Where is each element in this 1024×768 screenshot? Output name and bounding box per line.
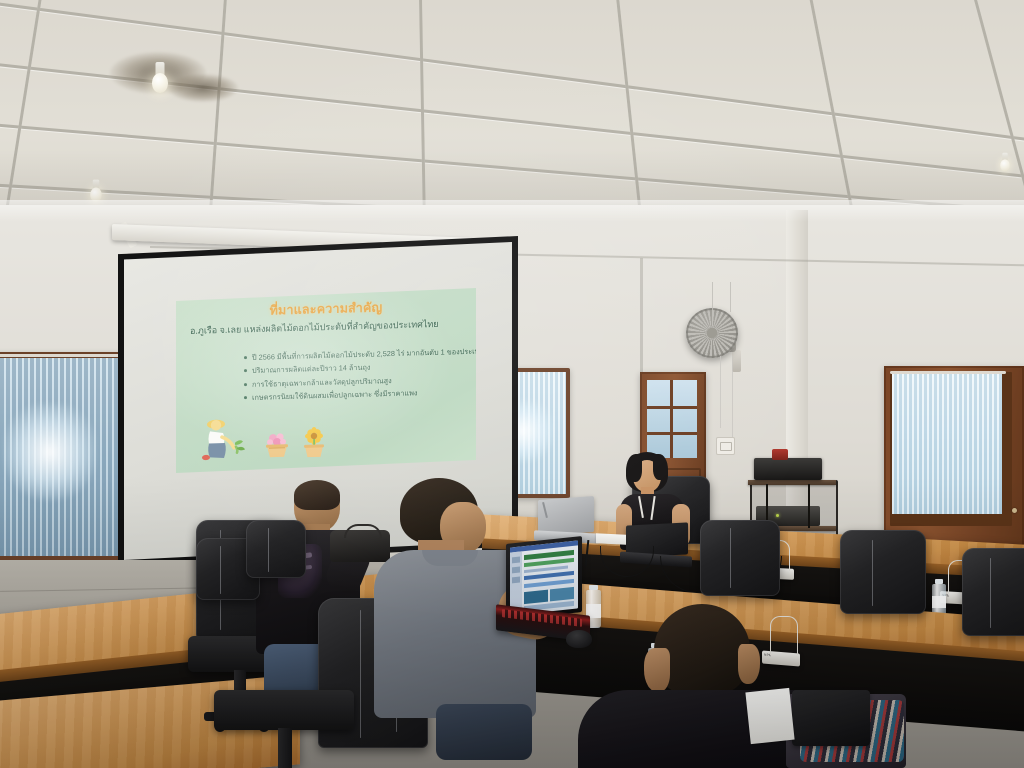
rack-red-device	[772, 449, 788, 460]
laptop-screen	[510, 540, 578, 615]
pink-flower-pot-icon	[262, 429, 292, 460]
notebook-paper	[745, 688, 794, 744]
fan-wall-mount	[732, 350, 741, 372]
chair-foreground-left[interactable]	[214, 690, 364, 768]
slide-bullet: ปริมาณการผลิตแต่ละปีราว 14 ล้านถุง	[244, 359, 476, 376]
gardener-planting-icon	[202, 416, 248, 461]
sunflower-pot-icon	[300, 427, 328, 460]
door-knob-icon[interactable]	[1012, 508, 1017, 513]
wireless-mouse[interactable]	[566, 630, 592, 648]
right-door-curtain	[892, 374, 1002, 514]
presenter-paper	[596, 533, 626, 545]
pendant-bulb-icon	[150, 62, 170, 102]
chair-right-3[interactable]	[962, 548, 1024, 674]
left-window-glare	[4, 404, 96, 500]
meeting-room-photo: ที่มาและความสำคัญ อ.ภูเรือ จ.เลย แหล่งผล…	[0, 0, 1024, 768]
tablet-device[interactable]	[792, 690, 870, 746]
slide-bullet-list: ปี 2566 มีพื้นที่การผลิตไม้ดอกไม้ประดับ …	[204, 346, 476, 408]
chair-left-2[interactable]	[246, 520, 316, 610]
slide-bullet: ปี 2566 มีพื้นที่การผลิตไม้ดอกไม้ประดับ …	[244, 346, 476, 363]
ceiling-water-stain-2	[168, 74, 238, 102]
slide-bullet: การใช้ธาตุเฉพาะกล้าและวัสดุปลูกปริมาณสูง	[244, 372, 476, 389]
wall-power-outlet[interactable]	[716, 437, 735, 455]
attendee-hair	[294, 480, 340, 510]
rack-black-device	[754, 458, 822, 480]
presentation-slide: ที่มาและความสำคัญ อ.ภูเรือ จ.เลย แหล่งผล…	[176, 288, 476, 473]
chair-right-2[interactable]	[840, 530, 936, 650]
chair-right-1[interactable]	[700, 520, 790, 630]
